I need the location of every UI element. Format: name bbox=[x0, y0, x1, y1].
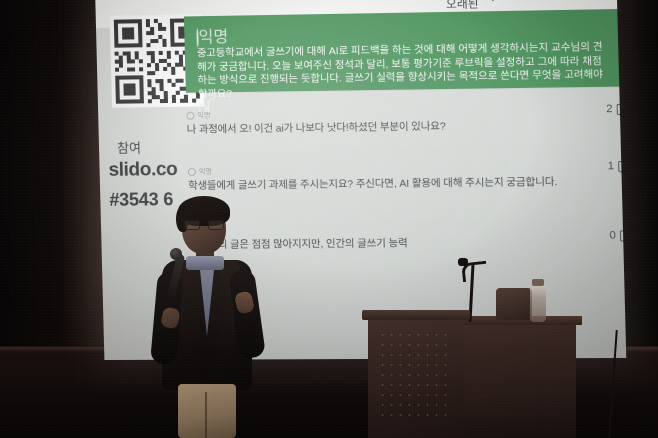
photo-scene: 가장 오래된 20 bbox=[0, 0, 658, 438]
chevron-down-icon bbox=[485, 0, 500, 1]
question-author: 익명 bbox=[188, 162, 622, 177]
gooseneck-mic-head bbox=[458, 258, 468, 266]
question-text: 중고등학교에서 글쓰기에 대해 AI로 피드백을 하는 것에 대해 어떻게 생각… bbox=[197, 41, 607, 102]
thumbs-up-icon bbox=[617, 103, 627, 114]
join-label: 참여 bbox=[117, 137, 141, 156]
question-text: 학생들에게 글쓰기 과제를 주시는지요? 주신다면, AI 활용에 대해 주시는… bbox=[188, 175, 622, 194]
presenter-trousers bbox=[178, 384, 236, 438]
water-bottle bbox=[530, 284, 546, 322]
question-card[interactable]: 익명 나 과정에서 오! 이건 ai가 나보다 낫다!하셨던 부분이 있나요? … bbox=[186, 105, 620, 138]
sort-label-line2: 오래된 bbox=[446, 0, 479, 11]
join-url: slido.co bbox=[108, 159, 177, 182]
question-card[interactable]: 익명 학생들에게 글쓰기 과제를 주시는지요? 주신다면, AI 활용에 대해 … bbox=[188, 162, 622, 194]
vote-count: 0 bbox=[609, 229, 616, 241]
question-text: 나 과정에서 오! 이건 ai가 나보다 낫다!하셨던 부분이 있나요? bbox=[187, 118, 621, 138]
author-name: 익명 bbox=[199, 167, 212, 177]
lectern-perforation bbox=[378, 330, 452, 420]
question-card-highlighted[interactable]: 익명 중고등학교에서 글쓰기에 대해 AI로 피드백을 하는 것에 대해 어떻게… bbox=[184, 9, 619, 93]
author-name: 익명 bbox=[197, 110, 210, 120]
vote-count: 1 bbox=[608, 160, 615, 172]
thumbs-up-icon bbox=[618, 160, 626, 171]
presenter bbox=[148, 196, 268, 438]
vote-control[interactable]: 2 bbox=[606, 103, 626, 116]
card-divider bbox=[187, 148, 621, 154]
thumbs-up-icon bbox=[620, 230, 626, 241]
sort-dropdown[interactable]: 가장 오래된 bbox=[445, 0, 498, 11]
avatar bbox=[188, 168, 196, 176]
trouser-seam bbox=[205, 392, 207, 438]
vote-count: 2 bbox=[606, 103, 613, 115]
avatar bbox=[186, 112, 194, 120]
microphone-head bbox=[170, 248, 182, 260]
lectern-top bbox=[362, 310, 470, 320]
water-bottle-cap bbox=[532, 279, 544, 286]
confidence-monitor bbox=[496, 288, 532, 320]
vote-control[interactable]: 1 bbox=[608, 160, 627, 172]
presenter-collar bbox=[186, 256, 224, 270]
author-name: 익명 bbox=[198, 29, 228, 47]
side-desk bbox=[458, 322, 576, 438]
glasses-icon bbox=[184, 220, 224, 228]
vote-control[interactable]: 0 bbox=[609, 229, 626, 241]
